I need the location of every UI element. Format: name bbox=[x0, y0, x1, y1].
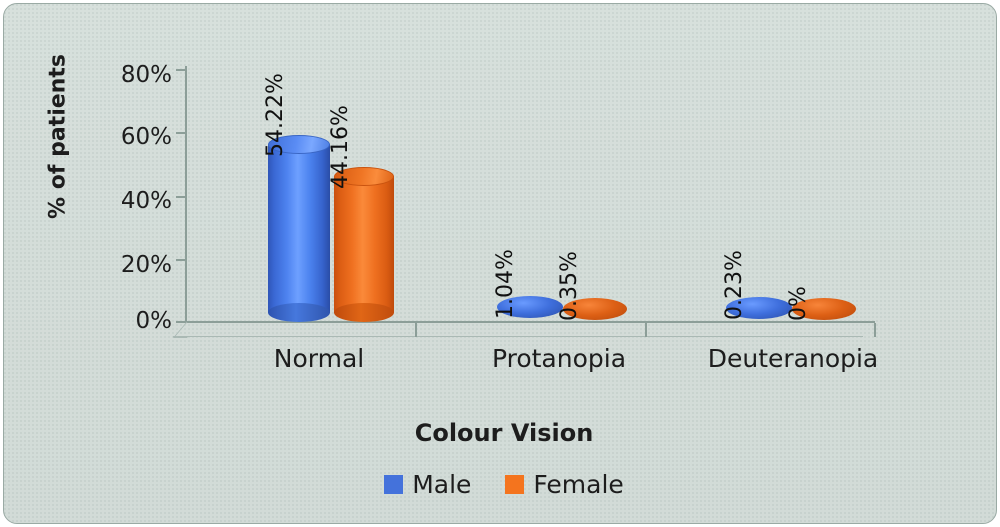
y-tick-60 bbox=[176, 132, 185, 134]
y-axis-title: % of patients bbox=[46, 47, 71, 227]
legend-label-female: Female bbox=[533, 472, 623, 497]
legend-item-male[interactable]: Male bbox=[384, 472, 471, 497]
data-label-female-normal: 44.16% bbox=[328, 105, 353, 189]
bar-body bbox=[334, 176, 394, 313]
data-label-male-normal: 54.22% bbox=[263, 73, 288, 157]
chart-floor-front-edge bbox=[173, 336, 863, 337]
legend-swatch-male-icon bbox=[384, 475, 403, 494]
x-axis-separator-3 bbox=[874, 323, 876, 337]
x-category-label-protanopia: Protanopia bbox=[464, 344, 654, 373]
y-tick-40 bbox=[176, 196, 185, 198]
x-axis-separator-1 bbox=[415, 323, 417, 337]
legend-swatch-female-icon bbox=[505, 475, 524, 494]
x-axis-separator-2 bbox=[645, 323, 647, 337]
legend-item-female[interactable]: Female bbox=[505, 472, 623, 497]
x-category-label-normal: Normal bbox=[234, 344, 404, 373]
bar-bottom-cap bbox=[334, 303, 394, 322]
chart-container: % of patients 80% 60% 40% 20% 0% 54.22% … bbox=[3, 3, 997, 524]
chart-legend: Male Female bbox=[4, 472, 997, 497]
y-tick-label-40: 40% bbox=[98, 190, 172, 213]
y-tick-20 bbox=[176, 259, 185, 261]
data-label-female-protanopia: 0.35% bbox=[557, 251, 582, 321]
data-label-male-deuteranopia: 0.23% bbox=[722, 250, 747, 320]
y-tick-0 bbox=[176, 321, 185, 323]
bar-bottom-cap bbox=[268, 303, 330, 322]
x-axis-title: Colour Vision bbox=[4, 419, 997, 447]
data-label-male-protanopia: 1.04% bbox=[493, 249, 518, 319]
y-tick-80 bbox=[176, 69, 185, 71]
y-tick-label-60: 60% bbox=[98, 126, 172, 149]
y-tick-label-20: 20% bbox=[98, 254, 172, 277]
x-category-label-deuteranopia: Deuteranopia bbox=[688, 344, 898, 373]
y-tick-label-80: 80% bbox=[98, 64, 172, 87]
bar-body bbox=[268, 144, 330, 313]
bar-male-normal[interactable] bbox=[268, 135, 330, 322]
y-tick-label-0: 0% bbox=[98, 310, 172, 333]
data-label-female-deuteranopia: 0% bbox=[786, 286, 811, 321]
legend-label-male: Male bbox=[412, 472, 471, 497]
y-axis-line bbox=[185, 66, 187, 323]
bar-female-normal[interactable] bbox=[334, 167, 394, 322]
